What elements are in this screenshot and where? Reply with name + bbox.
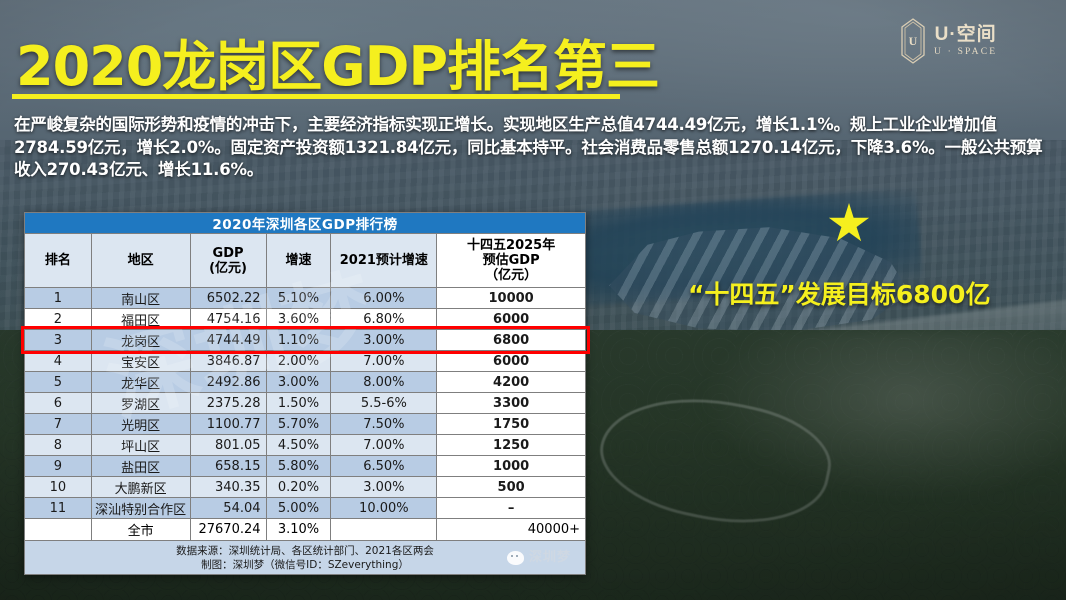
cell-gdp: 6502.22 bbox=[190, 288, 266, 309]
cell-estimate: 4200 bbox=[437, 372, 586, 393]
footer-badge: 深圳梦 bbox=[507, 551, 571, 565]
table-row: 11深汕特别合作区54.045.00%10.00%– bbox=[25, 498, 586, 519]
cell-growth: 1.10% bbox=[266, 330, 331, 351]
cell-growth: 1.50% bbox=[266, 393, 331, 414]
cell-district: 龙岗区 bbox=[91, 330, 190, 351]
column-header-estimate-line2: 预估GDP bbox=[437, 253, 585, 268]
u-monogram-icon: U bbox=[900, 18, 926, 64]
footer-source-line: 数据来源：深圳统计局、各区统计部门、2021各区两会 bbox=[25, 544, 585, 558]
total-estimate: 40000+ bbox=[437, 519, 586, 541]
cell-district: 龙华区 bbox=[91, 372, 190, 393]
table-row: 5龙华区2492.863.00%8.00%4200 bbox=[25, 372, 586, 393]
total-forecast bbox=[331, 519, 437, 541]
cell-forecast: 10.00% bbox=[331, 498, 437, 519]
column-header-estimate-line1: 十四五2025年 bbox=[437, 238, 585, 253]
cell-growth: 3.00% bbox=[266, 372, 331, 393]
table-title-row: 2020年深圳各区GDP排行榜 bbox=[25, 213, 586, 234]
cell-rank: 1 bbox=[25, 288, 92, 309]
cell-district: 坪山区 bbox=[91, 435, 190, 456]
cell-gdp: 340.35 bbox=[190, 477, 266, 498]
cell-district: 福田区 bbox=[91, 309, 190, 330]
cell-gdp: 1100.77 bbox=[190, 414, 266, 435]
cell-district: 光明区 bbox=[91, 414, 190, 435]
cell-growth: 2.00% bbox=[266, 351, 331, 372]
cell-growth: 3.60% bbox=[266, 309, 331, 330]
table-row: 3龙岗区4744.491.10%3.00%6800 bbox=[25, 330, 586, 351]
page-title: 2020龙岗区GDP排名第三 bbox=[16, 22, 659, 101]
gdp-table-container: 2020年深圳各区GDP排行榜 排名 地区 GDP (亿元) 增速 2021预计… bbox=[24, 212, 586, 575]
cell-rank: 9 bbox=[25, 456, 92, 477]
table-row: 4宝安区3846.872.00%7.00%6000 bbox=[25, 351, 586, 372]
total-growth: 3.10% bbox=[266, 519, 331, 541]
cell-gdp: 658.15 bbox=[190, 456, 266, 477]
cell-estimate: 6800 bbox=[437, 330, 586, 351]
cell-forecast: 8.00% bbox=[331, 372, 437, 393]
cell-gdp: 3846.87 bbox=[190, 351, 266, 372]
cell-estimate: 3300 bbox=[437, 393, 586, 414]
table-row: 1南山区6502.225.10%6.00%10000 bbox=[25, 288, 586, 309]
cell-growth: 5.00% bbox=[266, 498, 331, 519]
table-total-row: 全市 27670.24 3.10% 40000+ bbox=[25, 519, 586, 541]
table-row: 6罗湖区2375.281.50%5.5-6%3300 bbox=[25, 393, 586, 414]
cell-gdp: 2492.86 bbox=[190, 372, 266, 393]
table-title: 2020年深圳各区GDP排行榜 bbox=[25, 213, 586, 234]
cell-growth: 4.50% bbox=[266, 435, 331, 456]
title-underline-rule bbox=[12, 94, 620, 99]
svg-text:U: U bbox=[909, 34, 918, 48]
table-footer-row: 数据来源：深圳统计局、各区统计部门、2021各区两会 制图：深圳梦（微信号ID：… bbox=[25, 541, 586, 575]
cell-district: 罗湖区 bbox=[91, 393, 190, 414]
cell-rank: 10 bbox=[25, 477, 92, 498]
cell-forecast: 7.50% bbox=[331, 414, 437, 435]
column-header-growth: 增速 bbox=[266, 234, 331, 288]
cell-growth: 0.20% bbox=[266, 477, 331, 498]
cell-forecast: 6.80% bbox=[331, 309, 437, 330]
cell-forecast: 5.5-6% bbox=[331, 393, 437, 414]
footer-credit-line: 制图：深圳梦（微信号ID：SZeverything） bbox=[25, 558, 585, 572]
cell-estimate: 6000 bbox=[437, 351, 586, 372]
logo-text-en: U · SPACE bbox=[934, 48, 997, 58]
table-footer: 数据来源：深圳统计局、各区统计部门、2021各区两会 制图：深圳梦（微信号ID：… bbox=[25, 541, 586, 575]
table-row: 10大鹏新区340.350.20%3.00%500 bbox=[25, 477, 586, 498]
cell-estimate: 1750 bbox=[437, 414, 586, 435]
intro-paragraph: 在严峻复杂的国际形势和疫情的冲击下，主要经济指标实现正增长。实现地区生产总值47… bbox=[14, 114, 1054, 182]
column-header-estimate-line3: （亿元） bbox=[437, 268, 585, 283]
column-header-district: 地区 bbox=[91, 234, 190, 288]
brand-logo: U U·空间 U · SPACE bbox=[900, 14, 1030, 68]
cell-gdp: 4744.49 bbox=[190, 330, 266, 351]
cell-rank: 4 bbox=[25, 351, 92, 372]
cell-district: 深汕特别合作区 bbox=[91, 498, 190, 519]
cell-estimate: 6000 bbox=[437, 309, 586, 330]
cell-rank: 8 bbox=[25, 435, 92, 456]
column-header-forecast: 2021预计增速 bbox=[331, 234, 437, 288]
wechat-icon bbox=[507, 551, 524, 565]
cell-forecast: 3.00% bbox=[331, 477, 437, 498]
column-header-gdp-line2: (亿元) bbox=[191, 261, 266, 276]
gdp-table: 2020年深圳各区GDP排行榜 排名 地区 GDP (亿元) 增速 2021预计… bbox=[24, 212, 586, 575]
cell-district: 盐田区 bbox=[91, 456, 190, 477]
table-row: 7光明区1100.775.70%7.50%1750 bbox=[25, 414, 586, 435]
table-row: 2福田区4754.163.60%6.80%6000 bbox=[25, 309, 586, 330]
cell-rank: 6 bbox=[25, 393, 92, 414]
column-header-gdp-line1: GDP bbox=[191, 246, 266, 261]
cell-rank: 5 bbox=[25, 372, 92, 393]
cell-forecast: 7.00% bbox=[331, 435, 437, 456]
cell-growth: 5.10% bbox=[266, 288, 331, 309]
cell-gdp: 2375.28 bbox=[190, 393, 266, 414]
cell-rank: 7 bbox=[25, 414, 92, 435]
cell-district: 大鹏新区 bbox=[91, 477, 190, 498]
cell-rank: 3 bbox=[25, 330, 92, 351]
cell-rank: 11 bbox=[25, 498, 92, 519]
cell-gdp: 4754.16 bbox=[190, 309, 266, 330]
footer-badge-label: 深圳梦 bbox=[529, 551, 571, 565]
table-header-row: 排名 地区 GDP (亿元) 增速 2021预计增速 十四五2025年 预估GD… bbox=[25, 234, 586, 288]
cell-estimate: 500 bbox=[437, 477, 586, 498]
cell-forecast: 6.00% bbox=[331, 288, 437, 309]
cell-estimate: 1000 bbox=[437, 456, 586, 477]
cell-estimate: – bbox=[437, 498, 586, 519]
total-district: 全市 bbox=[91, 519, 190, 541]
cell-rank: 2 bbox=[25, 309, 92, 330]
cell-gdp: 54.04 bbox=[190, 498, 266, 519]
cell-estimate: 1250 bbox=[437, 435, 586, 456]
table-row: 8坪山区801.054.50%7.00%1250 bbox=[25, 435, 586, 456]
column-header-estimate: 十四五2025年 预估GDP （亿元） bbox=[437, 234, 586, 288]
cell-district: 南山区 bbox=[91, 288, 190, 309]
cell-forecast: 6.50% bbox=[331, 456, 437, 477]
cell-district: 宝安区 bbox=[91, 351, 190, 372]
callout-target-text: “十四五”发展目标6800亿 bbox=[688, 275, 990, 311]
logo-text-cn: U·空间 bbox=[935, 25, 997, 44]
cell-growth: 5.70% bbox=[266, 414, 331, 435]
column-header-gdp: GDP (亿元) bbox=[190, 234, 266, 288]
column-header-rank: 排名 bbox=[25, 234, 92, 288]
total-rank bbox=[25, 519, 92, 541]
cell-forecast: 3.00% bbox=[331, 330, 437, 351]
table-row: 9盐田区658.155.80%6.50%1000 bbox=[25, 456, 586, 477]
cell-growth: 5.80% bbox=[266, 456, 331, 477]
cell-forecast: 7.00% bbox=[331, 351, 437, 372]
cell-gdp: 801.05 bbox=[190, 435, 266, 456]
cell-estimate: 10000 bbox=[437, 288, 586, 309]
total-gdp: 27670.24 bbox=[190, 519, 266, 541]
